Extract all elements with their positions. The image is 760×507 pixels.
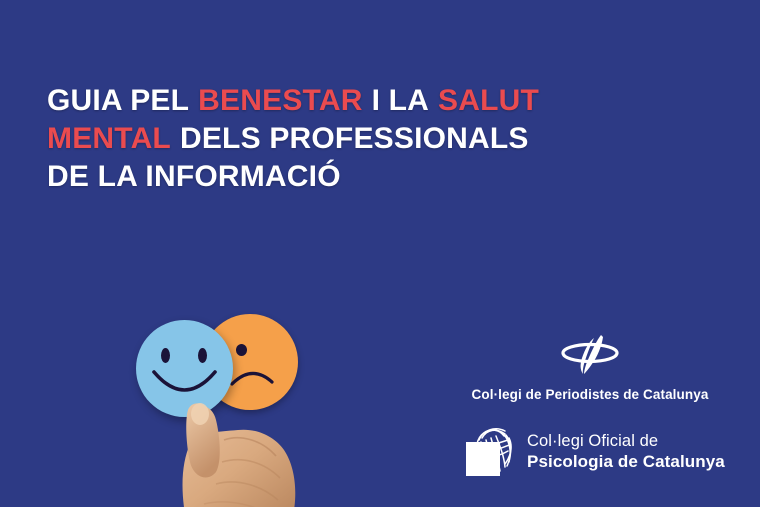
hand-holding-smiley-photo	[118, 296, 330, 507]
smile-mouth-icon	[150, 364, 219, 404]
logo-psicologia-label-line2: Psicologia de Catalunya	[527, 452, 725, 472]
title-seg-de-la-informacio: DE LA INFORMACIÓ	[47, 160, 341, 193]
logo-periodistes-label: Col·legi de Periodistes de Catalunya	[455, 387, 725, 402]
head-profile-square-icon	[463, 424, 519, 480]
title-seg-mental: MENTAL	[47, 122, 171, 155]
quill-orbit-icon	[554, 332, 626, 376]
happy-face-right-eye-icon	[198, 348, 207, 363]
logo-psicologia-label-line1: Col·legi Oficial de	[527, 432, 725, 451]
title-seg-dels-professionals: DELS PROFESSIONALS	[180, 122, 529, 155]
frown-mouth-icon	[228, 362, 276, 390]
poster-canvas: GUIA PELBENESTARI LASALUT MENTALDELS PRO…	[0, 0, 760, 507]
page-title: GUIA PELBENESTARI LASALUT MENTALDELS PRO…	[47, 82, 567, 196]
title-seg-guia-pel: GUIA PEL	[47, 84, 189, 117]
title-line-3: DE LA INFORMACIÓ	[47, 158, 567, 196]
happy-face-left-eye-icon	[161, 348, 170, 363]
hand-icon	[164, 400, 314, 507]
logo-periodistes-de-catalunya[interactable]: Col·legi de Periodistes de Catalunya	[455, 332, 725, 402]
title-seg-i-la: I LA	[372, 84, 429, 117]
logo-psicologia-labels: Col·legi Oficial de Psicologia de Catalu…	[527, 432, 725, 472]
title-seg-salut: SALUT	[438, 84, 539, 117]
title-seg-benestar: BENESTAR	[198, 84, 362, 117]
title-line-2: MENTALDELS PROFESSIONALS	[47, 120, 567, 158]
sad-face-eye-icon	[236, 344, 247, 356]
logo-psicologia-de-catalunya[interactable]: Col·legi Oficial de Psicologia de Catalu…	[463, 424, 743, 480]
title-line-1: GUIA PELBENESTARI LASALUT	[47, 82, 567, 120]
